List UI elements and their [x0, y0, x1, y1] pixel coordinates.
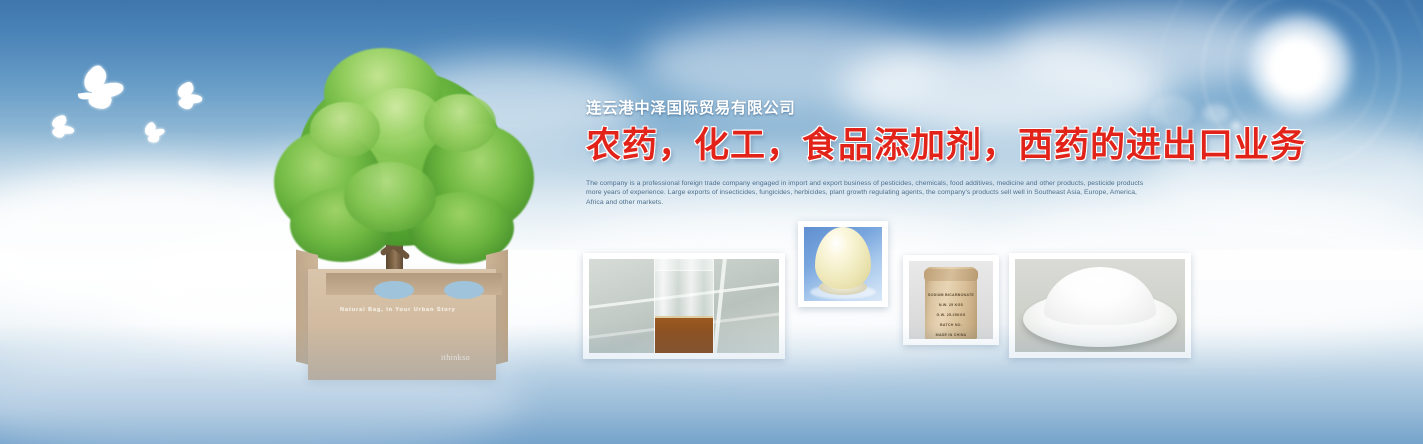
box-tagline: Natural Bag, In Your Urban Story [340, 307, 456, 313]
sack-text-line: BATCH NO. [925, 323, 977, 327]
photo-white-powder-plate [1009, 253, 1191, 358]
paper-sack: SODIUM BICARBONATE N.W. 25 KGS G.W. 25.2… [925, 267, 977, 339]
box-handle-hole [444, 281, 484, 299]
dove-icon [75, 69, 133, 120]
photo-brown-liquid-vial [583, 253, 785, 359]
promotional-banner: Natural Bag, In Your Urban Story ithinks… [0, 0, 1423, 444]
sack-text-line: G.W. 25.25KGS [925, 313, 977, 317]
box-handle-hole [374, 281, 414, 299]
photo-paper-sack: SODIUM BICARBONATE N.W. 25 KGS G.W. 25.2… [903, 255, 999, 345]
sack-text-line: MADE IN CHINA [925, 333, 977, 337]
cloud [640, 20, 940, 110]
sack-text-line: N.W. 25 KGS [925, 303, 977, 307]
box-brand-label: ithinkso [441, 353, 470, 362]
company-description: The company is a professional foreign tr… [586, 179, 1146, 208]
dove-icon [45, 115, 79, 145]
sack-text-line: SODIUM BICARBONATE [925, 293, 977, 297]
dove-icon [140, 121, 170, 147]
cardboard-box: Natural Bag, In Your Urban Story ithinks… [296, 255, 508, 380]
headline-text-block: 连云港中泽国际贸易有限公司 农药，化工，食品添加剂，西药的进出口业务 The c… [586, 100, 1186, 208]
headline-slogan: 农药，化工，食品添加剂，西药的进出口业务 [586, 127, 1186, 165]
glass-vial [654, 259, 714, 353]
sun-core [1268, 40, 1324, 96]
box-front-panel: Natural Bag, In Your Urban Story ithinks… [308, 269, 496, 380]
lens-flare-dot [1203, 104, 1229, 122]
box-inner-edge [326, 273, 502, 295]
company-name: 连云港中泽国际贸易有限公司 [586, 100, 1186, 117]
photo-yellow-powder [798, 221, 888, 307]
dove-icon [171, 84, 208, 115]
